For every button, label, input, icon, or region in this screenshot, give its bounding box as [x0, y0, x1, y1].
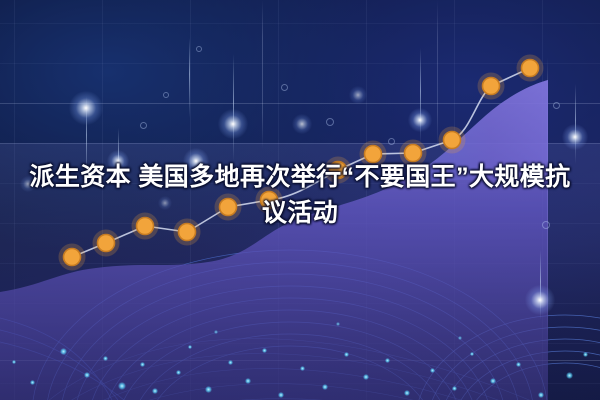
light-beam [233, 54, 234, 162]
particle-overlay [0, 0, 600, 400]
cyan-particle [516, 362, 521, 367]
cyan-particle [458, 336, 462, 340]
cyan-particle [176, 370, 181, 375]
light-glow [349, 86, 367, 104]
cyan-particle [538, 392, 544, 398]
ring-particle [140, 122, 147, 129]
ring-particle [326, 118, 334, 126]
cyan-particle [278, 392, 284, 398]
news-thumbnail-image: 派生资本 美国多地再次举行“不要国王”大规模抗 议活动 [0, 0, 600, 400]
light-glow [292, 114, 312, 134]
light-beam [86, 96, 87, 182]
cyan-particle [205, 386, 212, 393]
cyan-particle [228, 360, 233, 365]
cyan-particle [140, 362, 145, 367]
cyan-particle [404, 390, 410, 396]
cyan-particle [470, 352, 474, 356]
ring-particle [196, 46, 202, 52]
cyan-particle [12, 360, 16, 364]
cyan-particle [60, 348, 67, 355]
cyan-particle [385, 358, 390, 363]
ring-particle [388, 138, 395, 145]
light-glow [20, 176, 36, 192]
light-glow [158, 196, 172, 210]
cyan-particle [118, 382, 126, 390]
cyan-particle [430, 368, 435, 373]
cyan-particle [566, 372, 573, 379]
light-beam [420, 48, 421, 144]
cyan-particle [103, 356, 108, 361]
cyan-particle [490, 378, 496, 384]
ring-particle [281, 84, 288, 91]
ring-particle [542, 221, 550, 229]
cyan-particle [363, 374, 369, 380]
cyan-particle [188, 345, 192, 349]
cyan-particle [452, 386, 457, 391]
cyan-particle [262, 348, 267, 353]
cyan-particle [152, 388, 158, 394]
cyan-particle [344, 352, 349, 357]
cyan-particle [84, 372, 90, 378]
light-beam [189, 38, 190, 118]
ring-particle [553, 102, 560, 109]
cyan-particle [300, 366, 305, 371]
light-beam [575, 84, 576, 164]
light-beam [118, 128, 119, 188]
ring-particle [163, 92, 169, 98]
light-glow [183, 148, 209, 174]
cyan-particle [245, 378, 251, 384]
cyan-particle [322, 384, 328, 390]
light-beam [540, 250, 541, 320]
cyan-particle [30, 380, 35, 385]
cyan-particle [583, 352, 588, 357]
cyan-particle [214, 330, 218, 334]
cyan-particle [336, 322, 340, 326]
